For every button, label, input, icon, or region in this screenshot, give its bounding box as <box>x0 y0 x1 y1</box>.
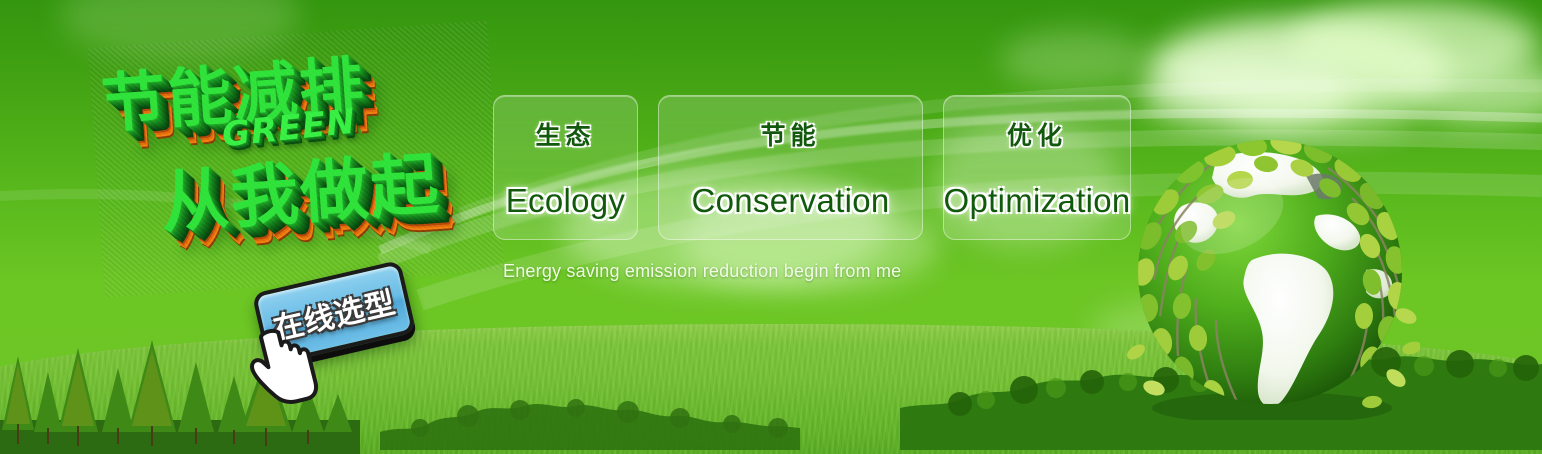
page-title: 节能减排 GREEN 从我做起 <box>88 20 504 297</box>
banner-tagline: Energy saving emission reduction begin f… <box>503 261 901 282</box>
feature-card-optimization[interactable]: 优化 Optimization <box>943 95 1131 240</box>
leafy-earth-globe <box>1120 120 1420 420</box>
feature-card-cn-label: 节能 <box>760 116 820 152</box>
feature-card-ecology[interactable]: 生态 Ecology <box>493 95 638 240</box>
feature-card-conservation[interactable]: 节能 Conservation <box>658 95 923 240</box>
feature-card-en-label: Ecology <box>506 182 626 220</box>
feature-card-en-label: Optimization <box>944 182 1131 220</box>
feature-card-cn-label: 优化 <box>1007 116 1067 152</box>
feature-card-cn-label: 生态 <box>535 116 595 152</box>
headline-line-bottom: 从我做起 <box>157 128 443 246</box>
feature-cards: 生态 Ecology 节能 Conservation 优化 Optimizati… <box>493 95 1131 240</box>
feature-card-en-label: Conservation <box>691 182 889 220</box>
eco-hero-banner: 节能减排 GREEN 从我做起 在线选型 <box>0 0 1542 454</box>
